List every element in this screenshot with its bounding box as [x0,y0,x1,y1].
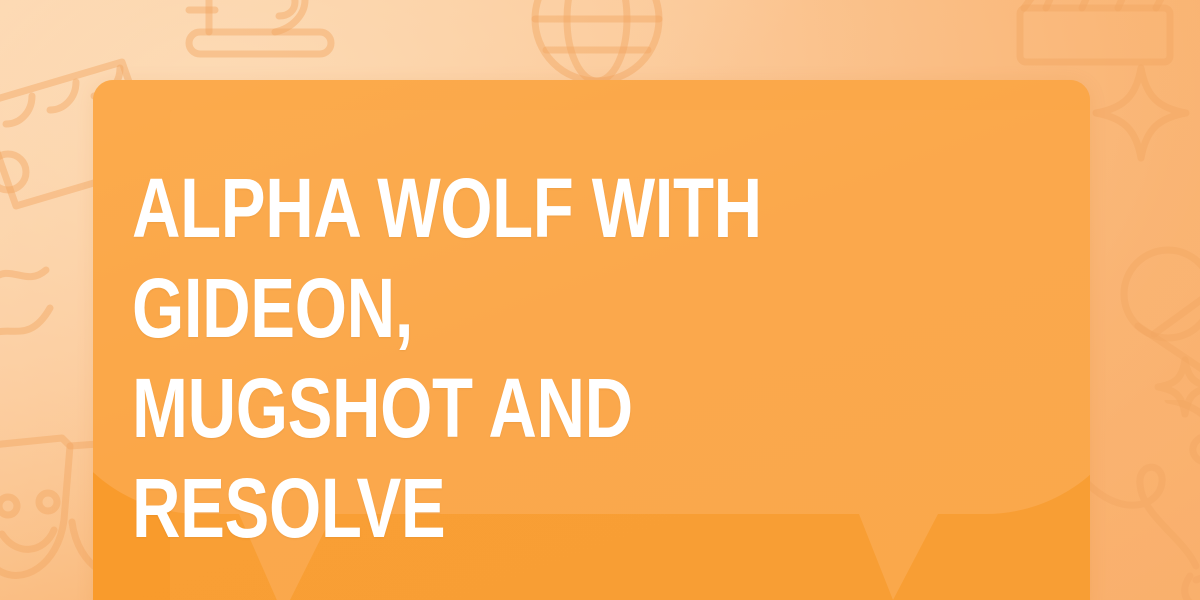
stage-podium-icon [175,0,345,78]
microphone-icon [1110,238,1200,408]
page-title: Alpha Wolf with Gideon, Mugshot and Reso… [132,158,866,558]
event-card: Alpha Wolf with Gideon, Mugshot and Reso… [93,80,1090,600]
card-content: Alpha Wolf with Gideon, Mugshot and Reso… [132,158,1050,600]
sparkle-icon [1086,58,1196,168]
event-banner: Alpha Wolf with Gideon, Mugshot and Reso… [0,0,1200,600]
film-clapper-icon [1006,0,1186,74]
sparkle-small-icon [1150,352,1200,422]
confetti-icon [0,250,96,380]
streamer-swirl-icon [1078,400,1200,600]
event-date-time: Sat, 30 May at 12:00 AM [132,596,866,600]
